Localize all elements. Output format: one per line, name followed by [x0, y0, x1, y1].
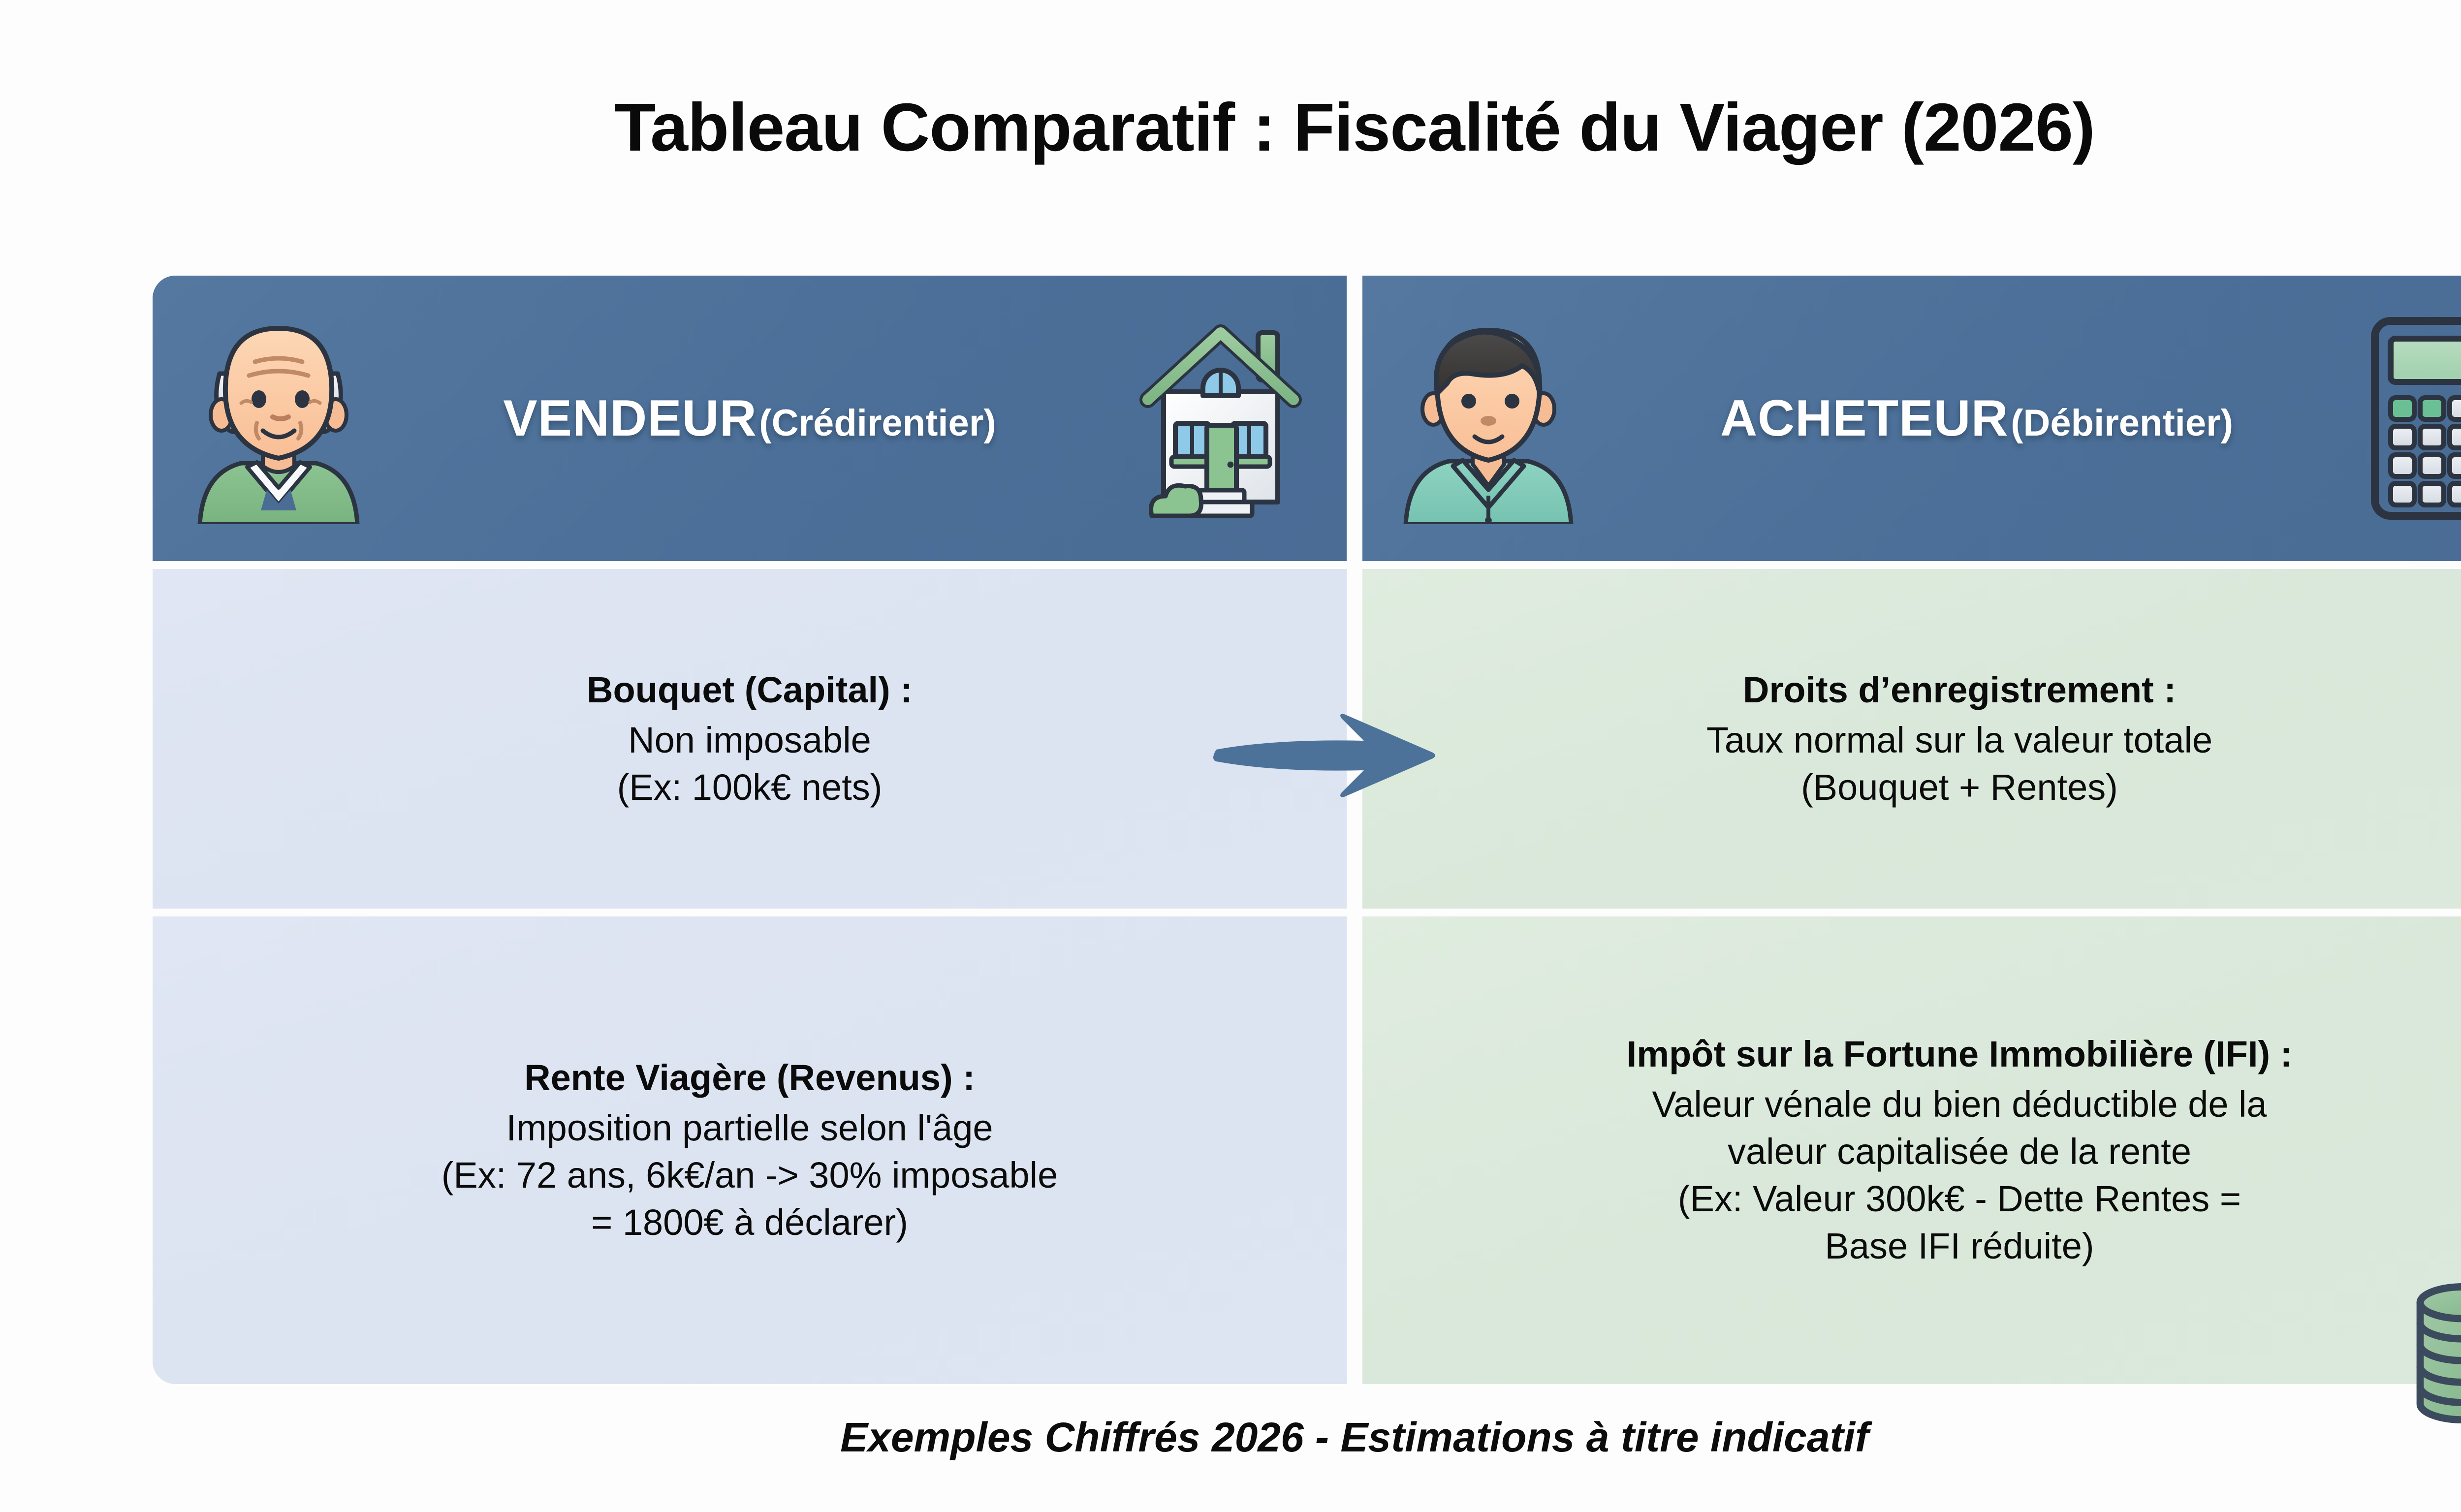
cell-line: Valeur vénale du bien déductible de la: [1392, 1081, 2461, 1128]
young-man-avatar-icon: [1390, 313, 1587, 524]
calculator-icon: [2366, 315, 2461, 522]
coin-stack-icon: [2397, 1211, 2461, 1432]
header-subtitle-label: (Débirentier): [2011, 402, 2233, 444]
cell-line: = 1800€ à déclarer): [182, 1199, 1317, 1246]
elderly-man-avatar-icon: [180, 313, 377, 524]
cell-line: (Bouquet + Rentes): [1392, 764, 2461, 811]
header-cell-vendeur: VENDEUR (Crédirentier): [153, 276, 1347, 561]
header-role-label: VENDEUR: [503, 390, 757, 447]
cell-vendeur-bouquet: Bouquet (Capital) : Non imposable (Ex: 1…: [153, 569, 1347, 909]
header-subtitle-label: (Crédirentier): [759, 402, 996, 444]
cell-line: (Ex: 72 ans, 6k€/an -> 30% imposable: [182, 1152, 1317, 1199]
cell-line: Base IFI réduite): [1392, 1223, 2461, 1270]
cell-text: Rente Viagère (Revenus) : Imposition par…: [153, 1054, 1347, 1247]
footer-note: Exemples Chiffrés 2026 - Estimations à t…: [0, 1414, 2461, 1461]
cell-lead-label: Droits d’enregistrement :: [1392, 666, 2461, 714]
header-text-vendeur: VENDEUR (Crédirentier): [377, 391, 1122, 446]
cell-line: (Ex: 100k€ nets): [182, 764, 1317, 811]
cell-line: Non imposable: [182, 717, 1317, 764]
header-text-acheteur: ACHETEUR (Débirentier): [1587, 391, 2366, 446]
cell-line: Taux normal sur la valeur totale: [1392, 717, 2461, 764]
comparison-table: VENDEUR (Crédirentier): [153, 276, 2461, 1384]
cell-line: Imposition partielle selon l'âge: [182, 1104, 1317, 1152]
cell-text: Impôt sur la Fortune Immobilière (IFI) :…: [1362, 1031, 2461, 1270]
house-icon: [1122, 315, 1319, 522]
cell-lead-label: Rente Viagère (Revenus) :: [182, 1054, 1317, 1102]
cell-vendeur-rente: Rente Viagère (Revenus) : Imposition par…: [153, 916, 1347, 1384]
cell-acheteur-droits: Droits d’enregistrement : Taux normal su…: [1362, 569, 2461, 909]
header-cell-acheteur: ACHETEUR (Débirentier): [1362, 276, 2461, 561]
cell-text: Bouquet (Capital) : Non imposable (Ex: 1…: [153, 666, 1347, 812]
cell-line: valeur capitalisée de la rente: [1392, 1128, 2461, 1175]
cell-lead-label: Bouquet (Capital) :: [182, 666, 1317, 714]
cell-line: (Ex: Valeur 300k€ - Dette Rentes =: [1392, 1175, 2461, 1223]
page-title: Tableau Comparatif : Fiscalité du Viager…: [0, 89, 2461, 167]
infographic-page: Tableau Comparatif : Fiscalité du Viager…: [0, 0, 2461, 1512]
cell-text: Droits d’enregistrement : Taux normal su…: [1362, 666, 2461, 812]
cell-lead-label: Impôt sur la Fortune Immobilière (IFI) :: [1392, 1031, 2461, 1078]
cell-acheteur-ifi: Impôt sur la Fortune Immobilière (IFI) :…: [1362, 916, 2461, 1384]
header-role-label: ACHETEUR: [1720, 390, 2009, 447]
